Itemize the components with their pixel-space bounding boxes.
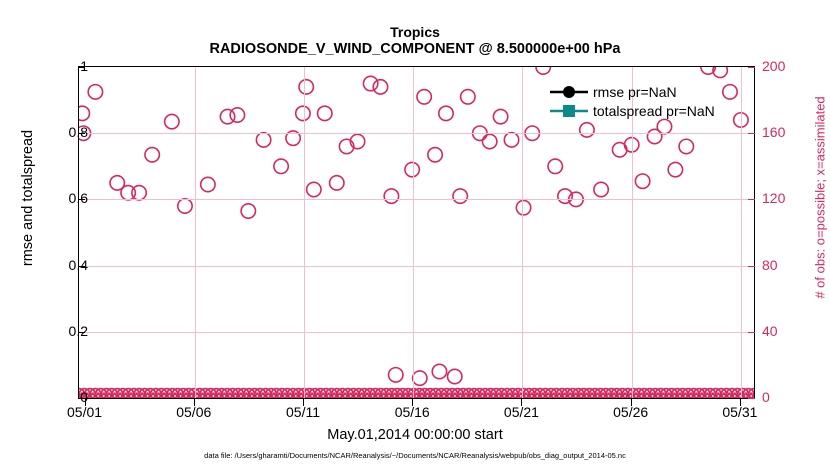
left-axis-tick-label: 1 — [28, 58, 88, 74]
right-axis-tick-mark — [748, 67, 755, 68]
obs-possible-marker — [201, 177, 215, 191]
obs-possible-marker — [165, 114, 179, 128]
obs-possible-marker — [432, 364, 446, 378]
left-axis-tick-mark — [78, 67, 85, 68]
obs-possible-marker — [299, 80, 313, 94]
x-axis-tick-label: 05/01 — [50, 404, 120, 420]
obs-possible-marker — [461, 90, 475, 104]
right-axis-tick-label: 200 — [762, 58, 822, 74]
obs-possible-marker — [373, 80, 387, 94]
obs-possible-marker — [657, 119, 671, 133]
obs-possible-marker — [536, 67, 550, 74]
x-axis-label: May.01,2014 00:00:00 start — [0, 427, 830, 443]
gridline-vertical — [195, 67, 196, 398]
right-axis-tick-mark — [748, 266, 755, 267]
obs-possible-marker — [504, 133, 518, 147]
x-axis-tick-label: 05/11 — [268, 404, 338, 420]
x-axis-tick-mark — [412, 399, 413, 406]
right-axis-tick-label: 120 — [762, 190, 822, 206]
obs-possible-marker — [88, 85, 102, 99]
obs-possible-marker — [145, 148, 159, 162]
obs-possible-marker — [230, 108, 244, 122]
left-axis-tick-mark — [78, 199, 85, 200]
obs-possible-marker — [413, 371, 427, 385]
obs-possible-marker — [307, 182, 321, 196]
obs-possible-marker — [256, 133, 270, 147]
obs-possible-marker — [241, 204, 255, 218]
obs-possible-marker — [363, 76, 377, 90]
obs-possible-marker — [548, 159, 562, 173]
chart-legend: rmse pr=NaN totalspread pr=NaN — [548, 82, 758, 120]
obs-possible-marker — [220, 109, 234, 123]
obs-possible-marker — [318, 106, 332, 120]
obs-possible-marker — [635, 174, 649, 188]
gridline-vertical — [304, 67, 305, 398]
x-axis-tick-label: 05/26 — [596, 404, 666, 420]
obs-possible-marker — [389, 368, 403, 382]
gridline-horizontal — [79, 133, 754, 134]
obs-possible-marker — [132, 186, 146, 200]
gridline-horizontal — [79, 266, 754, 267]
left-axis-tick-label: 0.8 — [28, 124, 88, 140]
obs-possible-marker — [428, 148, 442, 162]
right-axis-tick-mark — [748, 398, 755, 399]
right-axis-tick-label: 0 — [762, 389, 822, 405]
right-axis-tick-mark — [748, 332, 755, 333]
left-axis-tick-label: 0 — [28, 389, 88, 405]
x-axis-tick-mark — [631, 399, 632, 406]
figure-canvas: Tropics RADIOSONDE_V_WIND_COMPONENT @ 8.… — [0, 0, 830, 470]
right-axis-tick-label: 40 — [762, 323, 822, 339]
obs-possible-marker — [594, 182, 608, 196]
obs-possible-marker — [178, 199, 192, 213]
left-axis-tick-mark — [78, 266, 85, 267]
legend-marker-filled-circle-icon — [548, 84, 590, 100]
legend-item-rmse: rmse pr=NaN — [548, 82, 758, 101]
gridline-horizontal — [79, 199, 754, 200]
obs-possible-marker — [580, 123, 594, 137]
gridline-vertical — [413, 67, 414, 398]
x-axis-tick-mark — [85, 399, 86, 406]
x-axis-tick-mark — [740, 399, 741, 406]
x-axis-tick-label: 05/31 — [705, 404, 775, 420]
obs-possible-marker — [417, 90, 431, 104]
left-axis-tick-mark — [78, 133, 85, 134]
data-file-caption: data file: /Users/gharamti/Documents/NCA… — [0, 451, 830, 460]
x-axis-tick-mark — [521, 399, 522, 406]
gridline-vertical — [522, 67, 523, 398]
obs-possible-marker — [79, 106, 89, 120]
right-axis-tick-label: 160 — [762, 124, 822, 140]
obs-possible-marker — [405, 162, 419, 176]
gridline-horizontal — [79, 332, 754, 333]
x-axis-tick-mark — [303, 399, 304, 406]
left-axis-tick-label: 0.6 — [28, 190, 88, 206]
right-axis-tick-mark — [748, 199, 755, 200]
legend-label-rmse: rmse pr=NaN — [593, 84, 677, 100]
left-axis-tick-mark — [78, 332, 85, 333]
obs-possible-marker — [453, 189, 467, 203]
chart-title-variable: RADIOSONDE_V_WIND_COMPONENT @ 8.500000e+… — [0, 41, 830, 57]
obs-possible-marker — [493, 109, 507, 123]
legend-label-totalspread: totalspread pr=NaN — [593, 103, 715, 119]
chart-title-region: Tropics — [0, 24, 830, 40]
x-axis-tick-label: 05/21 — [486, 404, 556, 420]
legend-item-totalspread: totalspread pr=NaN — [548, 101, 758, 120]
obs-possible-marker — [274, 159, 288, 173]
x-axis-tick-label: 05/16 — [377, 404, 447, 420]
x-axis-tick-mark — [194, 399, 195, 406]
obs-possible-marker — [330, 176, 344, 190]
obs-possible-marker — [448, 369, 462, 383]
obs-possible-marker — [679, 139, 693, 153]
x-axis-tick-label: 05/06 — [159, 404, 229, 420]
obs-possible-marker — [516, 200, 530, 214]
legend-marker-filled-square-icon — [548, 103, 590, 119]
obs-possible-marker — [439, 106, 453, 120]
left-axis-tick-label: 0.4 — [28, 257, 88, 273]
obs-possible-marker — [384, 189, 398, 203]
obs-possible-marker — [482, 134, 496, 148]
obs-possible-marker — [668, 162, 682, 176]
obs-possible-marker — [296, 106, 310, 120]
right-axis-tick-label: 80 — [762, 257, 822, 273]
right-axis-tick-mark — [748, 133, 755, 134]
left-axis-tick-label: 0.2 — [28, 323, 88, 339]
